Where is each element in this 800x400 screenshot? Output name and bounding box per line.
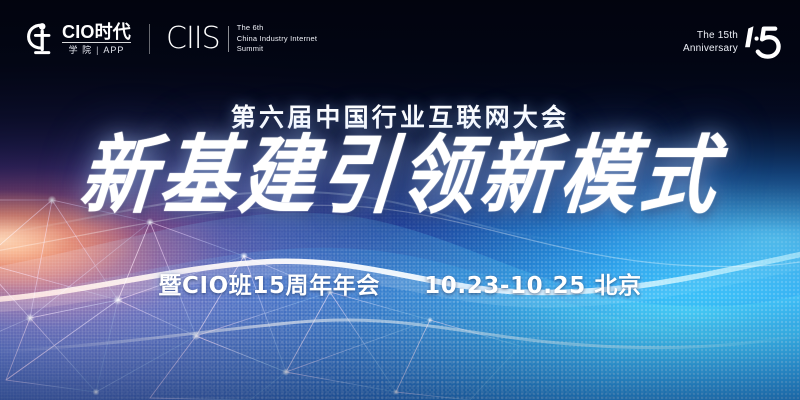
ciis-sub-line2: China Industry Internet xyxy=(237,34,317,45)
anniversary-15-numeral-icon xyxy=(736,20,782,66)
event-date-location: 10.23-10.25 北京 xyxy=(424,266,641,300)
ciis-logo[interactable]: CIIS The 6th China Industry Internet Sum… xyxy=(166,23,317,56)
ciis-rule xyxy=(228,26,229,52)
cio-sub-right: APP xyxy=(103,46,124,55)
cio-name: CIO时代 xyxy=(62,23,131,41)
anniversary-line2: Anniversary xyxy=(683,42,738,56)
ciis-subtitle: The 6th China Industry Internet Summit xyxy=(237,23,317,56)
ciis-wordmark: CIIS xyxy=(166,24,220,54)
logo-separator xyxy=(149,24,150,54)
logo-lockup: CIO时代 学 院 | APP CIIS The 6th China Indus… xyxy=(27,22,317,56)
anniversary-text: The 15th Anniversary xyxy=(683,29,738,58)
cio-wordmark: CIO时代 学 院 | APP xyxy=(62,23,131,55)
anniversary-line1: The 15th xyxy=(683,29,738,43)
cio-sub-left: 学 院 xyxy=(69,46,93,55)
cio-logo[interactable]: CIO时代 学 院 | APP xyxy=(27,22,131,56)
person-in-circle-icon xyxy=(27,22,57,56)
cio-sub-divider: | xyxy=(96,46,99,55)
ciis-sub-line3: Summit xyxy=(237,44,317,55)
event-info-line: 暨CIO班15周年年会 10.23-10.25 北京 xyxy=(0,266,800,300)
anniversary-badge: The 15th Anniversary xyxy=(683,20,782,66)
main-title-wrap: 新基建引领新模式 xyxy=(0,136,800,217)
banner-content: CIO时代 学 院 | APP CIIS The 6th China Indus… xyxy=(0,0,800,400)
event-name: 暨CIO班15周年年会 xyxy=(158,266,380,300)
conference-banner: CIO时代 学 院 | APP CIIS The 6th China Indus… xyxy=(0,0,800,400)
ciis-sub-line1: The 6th xyxy=(237,23,317,34)
cio-subtitle: 学 院 | APP xyxy=(62,42,131,55)
main-title: 新基建引领新模式 xyxy=(76,131,724,221)
